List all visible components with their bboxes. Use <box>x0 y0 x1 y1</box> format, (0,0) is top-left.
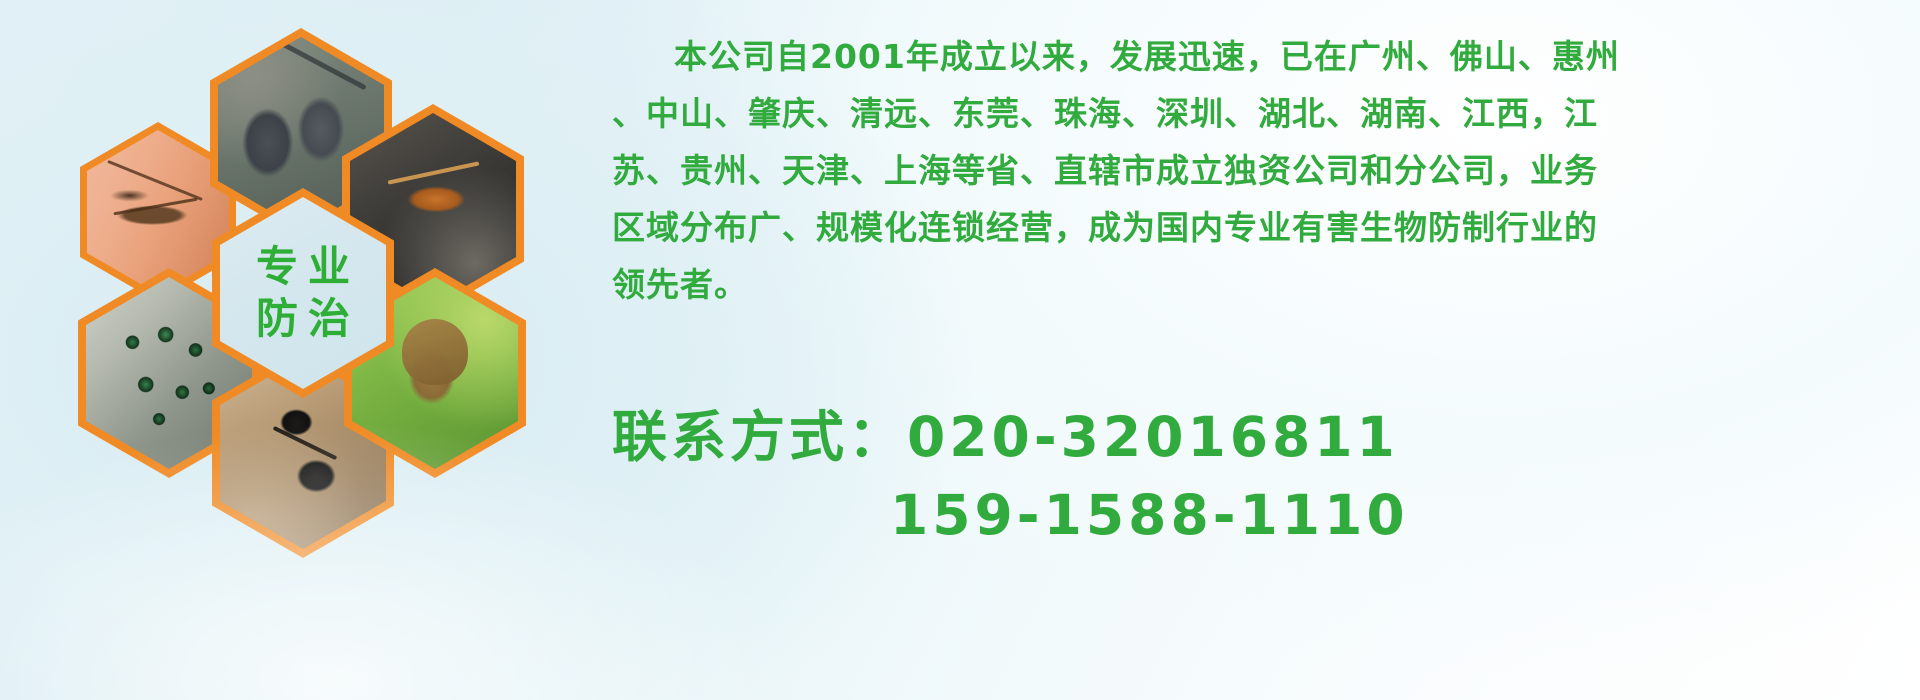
slogan-line-1: 专业 <box>246 241 360 294</box>
intro-line-4: 区域分布广、规模化连锁经营，成为国内专业有害生物防制行业的 <box>612 199 1902 256</box>
mosquito-photo <box>87 130 229 294</box>
intro-line-3: 苏、贵州、天津、上海等省、直辖市成立独资公司和分公司，业务 <box>612 142 1902 199</box>
contact-primary-row: 联系方式：020-32016811 <box>612 398 1902 476</box>
company-intro-paragraph: 本公司自2001年成立以来，发展迅速，已在广州、佛山、惠州 、中山、肇庆、清远、… <box>612 28 1902 313</box>
honeycomb-logo: 专业 防治 <box>80 10 600 570</box>
mosquito-icon <box>87 130 229 294</box>
contact-label: 联系方式： <box>612 405 907 469</box>
contact-phone-1[interactable]: 020-32016811 <box>907 405 1399 469</box>
company-intro-banner: 专业 防治 本公司自2001年成立以来，发展迅速，已在广州、佛山、惠州 、中山、… <box>0 0 1920 700</box>
intro-line-2: 、中山、肇庆、清远、东莞、珠海、深圳、湖北、湖南、江西，江 <box>612 85 1902 142</box>
slogan-line-2: 防治 <box>246 293 360 346</box>
intro-line-5: 领先者。 <box>612 256 1902 313</box>
intro-line-1: 本公司自2001年成立以来，发展迅速，已在广州、佛山、惠州 <box>612 28 1902 85</box>
contact-block: 联系方式：020-32016811 159-1588-1110 <box>612 398 1902 554</box>
contact-phone-2[interactable]: 159-1588-1110 <box>612 476 1902 554</box>
slogan-hexagon: 专业 防治 <box>220 197 386 389</box>
